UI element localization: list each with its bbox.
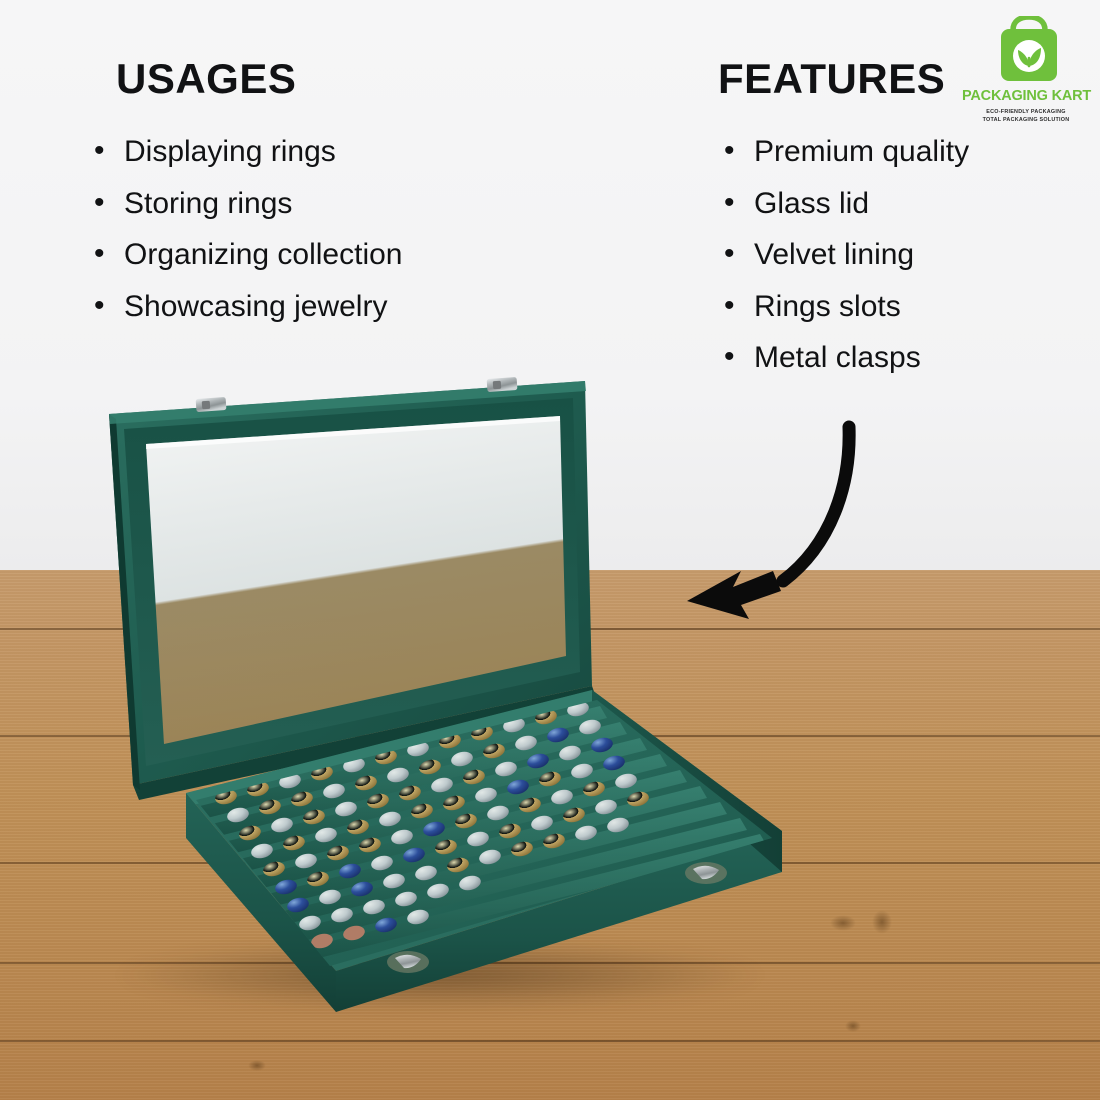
brand-name: PACKAGING KART bbox=[962, 88, 1090, 104]
features-title: FEATURES bbox=[718, 58, 969, 100]
list-item: Premium quality bbox=[718, 126, 969, 178]
brand-logo: PACKAGING KART ECO-FRIENDLY PACKAGING TO… bbox=[962, 16, 1090, 134]
list-item: Showcasing jewelry bbox=[88, 281, 402, 333]
list-item: Metal clasps bbox=[718, 332, 969, 384]
shopping-bag-icon bbox=[998, 16, 1060, 82]
list-item: Velvet lining bbox=[718, 229, 969, 281]
brand-tagline-line1: ECO-FRIENDLY PACKAGING bbox=[962, 108, 1090, 116]
pointing-arrow-icon bbox=[655, 395, 905, 630]
usages-title: USAGES bbox=[116, 58, 402, 100]
brand-tagline: ECO-FRIENDLY PACKAGING TOTAL PACKAGING S… bbox=[962, 108, 1090, 125]
list-item: Storing rings bbox=[88, 178, 402, 230]
hinge-right-icon bbox=[487, 377, 518, 392]
hinge-left-icon bbox=[196, 397, 227, 412]
list-item: Displaying rings bbox=[88, 126, 402, 178]
list-item: Organizing collection bbox=[88, 229, 402, 281]
list-item: Rings slots bbox=[718, 281, 969, 333]
features-section: FEATURES Premium quality Glass lid Velve… bbox=[718, 58, 969, 384]
metal-clasp-front-icon bbox=[387, 951, 429, 973]
usages-list: Displaying rings Storing rings Organizin… bbox=[88, 126, 402, 332]
list-item: Glass lid bbox=[718, 178, 969, 230]
features-list: Premium quality Glass lid Velvet lining … bbox=[718, 126, 969, 384]
usages-section: USAGES Displaying rings Storing rings Or… bbox=[88, 58, 402, 332]
brand-tagline-line2: TOTAL PACKAGING SOLUTION bbox=[962, 116, 1090, 124]
metal-clasp-right-icon bbox=[685, 862, 727, 884]
